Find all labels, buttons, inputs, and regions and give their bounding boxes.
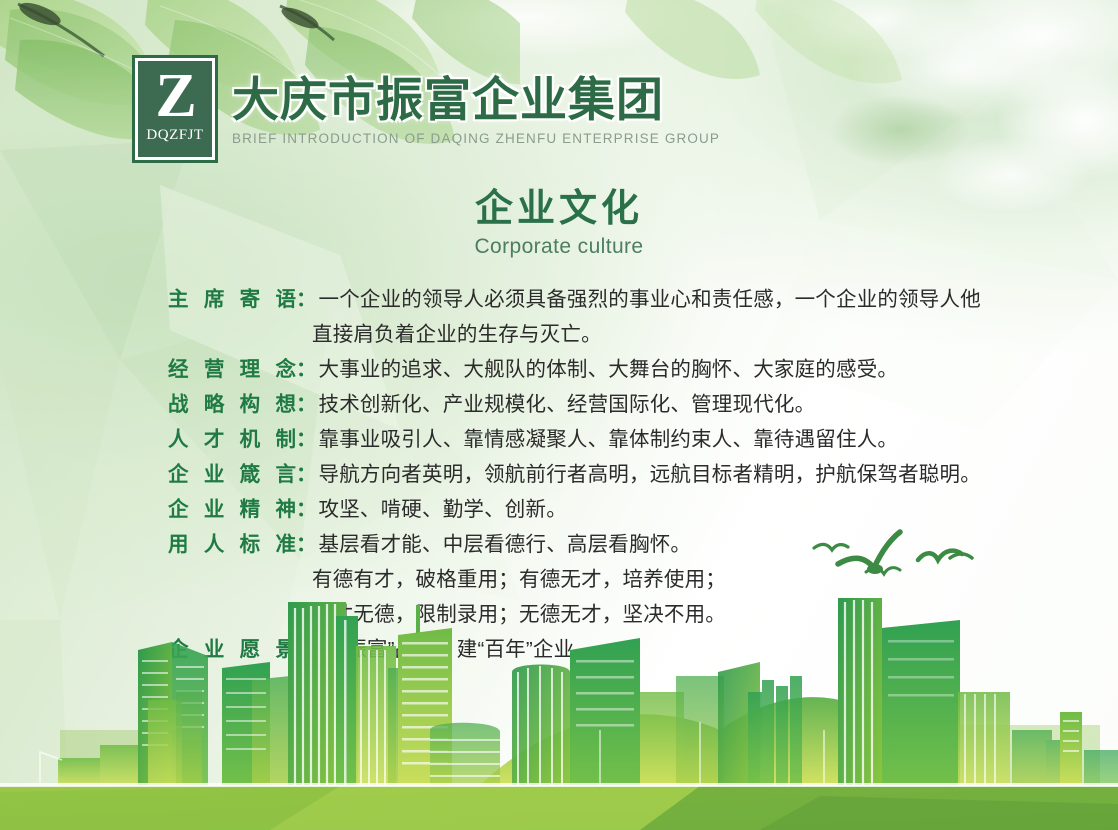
culture-row-text: 直接肩负着企业的生存与灭亡。 xyxy=(312,318,998,351)
logo-abbreviation: DQZFJT xyxy=(146,127,203,144)
culture-row-colon: ： xyxy=(296,528,317,561)
culture-row-text: 技术创新化、产业规模化、经营国际化、管理现代化。 xyxy=(319,388,999,421)
culture-row: 企业箴言：导航方向者英明，领航前行者高明，远航目标者精明，护航保驾者聪明。 xyxy=(168,458,998,491)
culture-row: 战略构想：技术创新化、产业规模化、经营国际化、管理现代化。 xyxy=(168,388,998,421)
poster-canvas: Z DQZFJT 大庆市振富企业集团 BRIEF INTRODUCTION OF… xyxy=(0,0,1118,830)
culture-row-label: 企业精神 xyxy=(168,493,296,526)
culture-row-text: 大事业的追求、大舰队的体制、大舞台的胸怀、大家庭的感受。 xyxy=(319,353,999,386)
culture-row-label: 用人标准 xyxy=(168,528,296,561)
culture-row: 人才机制：靠事业吸引人、靠情感凝聚人、靠体制约束人、靠待遇留住人。 xyxy=(168,423,998,456)
culture-row-text: 一个企业的领导人必须具备强烈的事业心和责任感，一个企业的领导人他 xyxy=(319,283,999,316)
logo-letter-z: Z xyxy=(155,67,194,126)
culture-row-label: 经营理念 xyxy=(168,353,296,386)
culture-row-colon: ： xyxy=(296,423,317,456)
section-title-cn: 企业文化 xyxy=(0,188,1118,232)
culture-row-label: 人才机制 xyxy=(168,423,296,456)
culture-row-label: 战略构想 xyxy=(168,388,296,421)
culture-row-text: 导航方向者英明，领航前行者高明，远航目标者精明，护航保驾者聪明。 xyxy=(319,458,999,491)
culture-row-colon: ： xyxy=(296,388,317,421)
company-logo: Z DQZFJT xyxy=(132,55,218,163)
culture-row: 经营理念：大事业的追求、大舰队的体制、大舞台的胸怀、大家庭的感受。 xyxy=(168,353,998,386)
culture-row-label: 主席寄语 xyxy=(168,283,296,316)
culture-row-text: 靠事业吸引人、靠情感凝聚人、靠体制约束人、靠待遇留住人。 xyxy=(319,423,999,456)
section-heading: 企业文化 Corporate culture xyxy=(0,188,1118,259)
company-subtitle: BRIEF INTRODUCTION OF DAQING ZHENFU ENTE… xyxy=(232,131,720,146)
culture-row: 直接肩负着企业的生存与灭亡。 xyxy=(168,318,998,351)
culture-row-colon: ： xyxy=(296,283,317,316)
culture-row-colon: ： xyxy=(296,458,317,491)
culture-row: 主席寄语：一个企业的领导人必须具备强烈的事业心和责任感，一个企业的领导人他 xyxy=(168,283,998,316)
culture-row-colon: ： xyxy=(296,353,317,386)
section-title-en: Corporate culture xyxy=(0,235,1118,259)
culture-row-label: 企业箴言 xyxy=(168,458,296,491)
culture-row-colon: ： xyxy=(296,493,317,526)
company-name: 大庆市振富企业集团 xyxy=(232,75,720,126)
brand-header: Z DQZFJT 大庆市振富企业集团 BRIEF INTRODUCTION OF… xyxy=(132,55,720,163)
city-skyline xyxy=(0,580,1118,830)
